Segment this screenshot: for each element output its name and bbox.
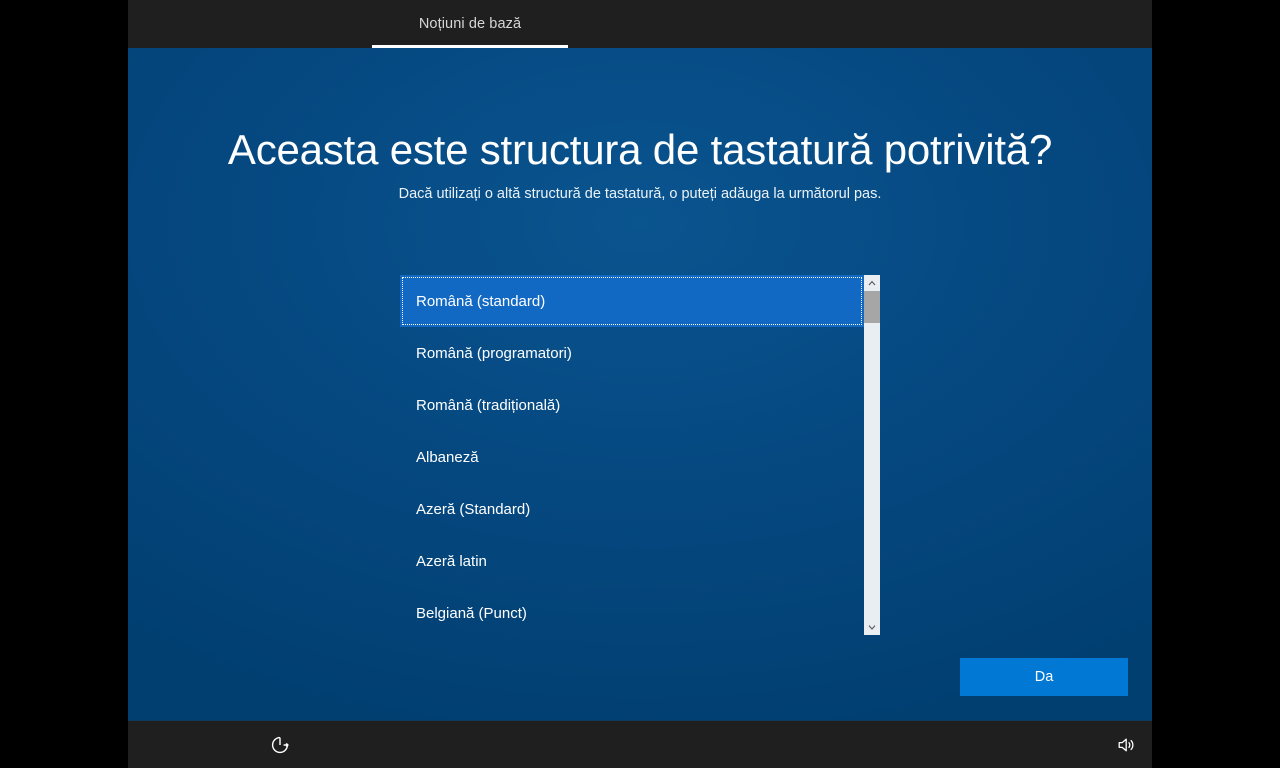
keyboard-layout-listbox[interactable]: Română (standard) Română (programatori) …: [400, 275, 880, 635]
page-subtitle: Dacă utilizați o altă structură de tasta…: [128, 186, 1152, 202]
list-item-label: Belgiană (Punct): [416, 605, 527, 622]
confirm-yes-button[interactable]: Da: [960, 658, 1128, 696]
list-item-label: Albaneză: [416, 449, 479, 466]
top-chrome-bar: Noțiuni de bază: [128, 0, 1152, 48]
oobe-body: Aceasta este structura de tastatură potr…: [128, 48, 1152, 720]
list-item[interactable]: Azeră (Standard): [400, 483, 864, 535]
tab-getting-started[interactable]: Noțiuni de bază: [372, 0, 568, 48]
scrollbar-thumb[interactable]: [864, 291, 880, 323]
keyboard-layout-items: Română (standard) Română (programatori) …: [400, 275, 864, 635]
list-item-label: Română (programatori): [416, 345, 572, 362]
list-item-label: Română (tradițională): [416, 397, 560, 414]
list-item[interactable]: Azeră latin: [400, 535, 864, 587]
list-item[interactable]: Belgiană (Punct): [400, 587, 864, 635]
volume-speaker-icon[interactable]: [1114, 733, 1138, 757]
list-item[interactable]: Română (programatori): [400, 327, 864, 379]
list-item-label: Azeră latin: [416, 553, 487, 570]
chevron-up-icon[interactable]: [864, 275, 880, 291]
chevron-down-icon[interactable]: [864, 619, 880, 635]
list-item[interactable]: Română (tradițională): [400, 379, 864, 431]
list-item[interactable]: Română (standard): [400, 275, 864, 327]
ease-of-access-icon[interactable]: [268, 733, 292, 757]
listbox-scrollbar[interactable]: [864, 275, 880, 635]
list-item-label: Română (standard): [416, 293, 545, 310]
page-title: Aceasta este structura de tastatură potr…: [128, 126, 1152, 174]
oobe-stage: Noțiuni de bază Aceasta este structura d…: [128, 0, 1152, 768]
list-item-label: Azeră (Standard): [416, 501, 530, 518]
oobe-screen: Noțiuni de bază Aceasta este structura d…: [0, 0, 1280, 768]
oobe-taskbar: [128, 720, 1152, 768]
list-item[interactable]: Albaneză: [400, 431, 864, 483]
